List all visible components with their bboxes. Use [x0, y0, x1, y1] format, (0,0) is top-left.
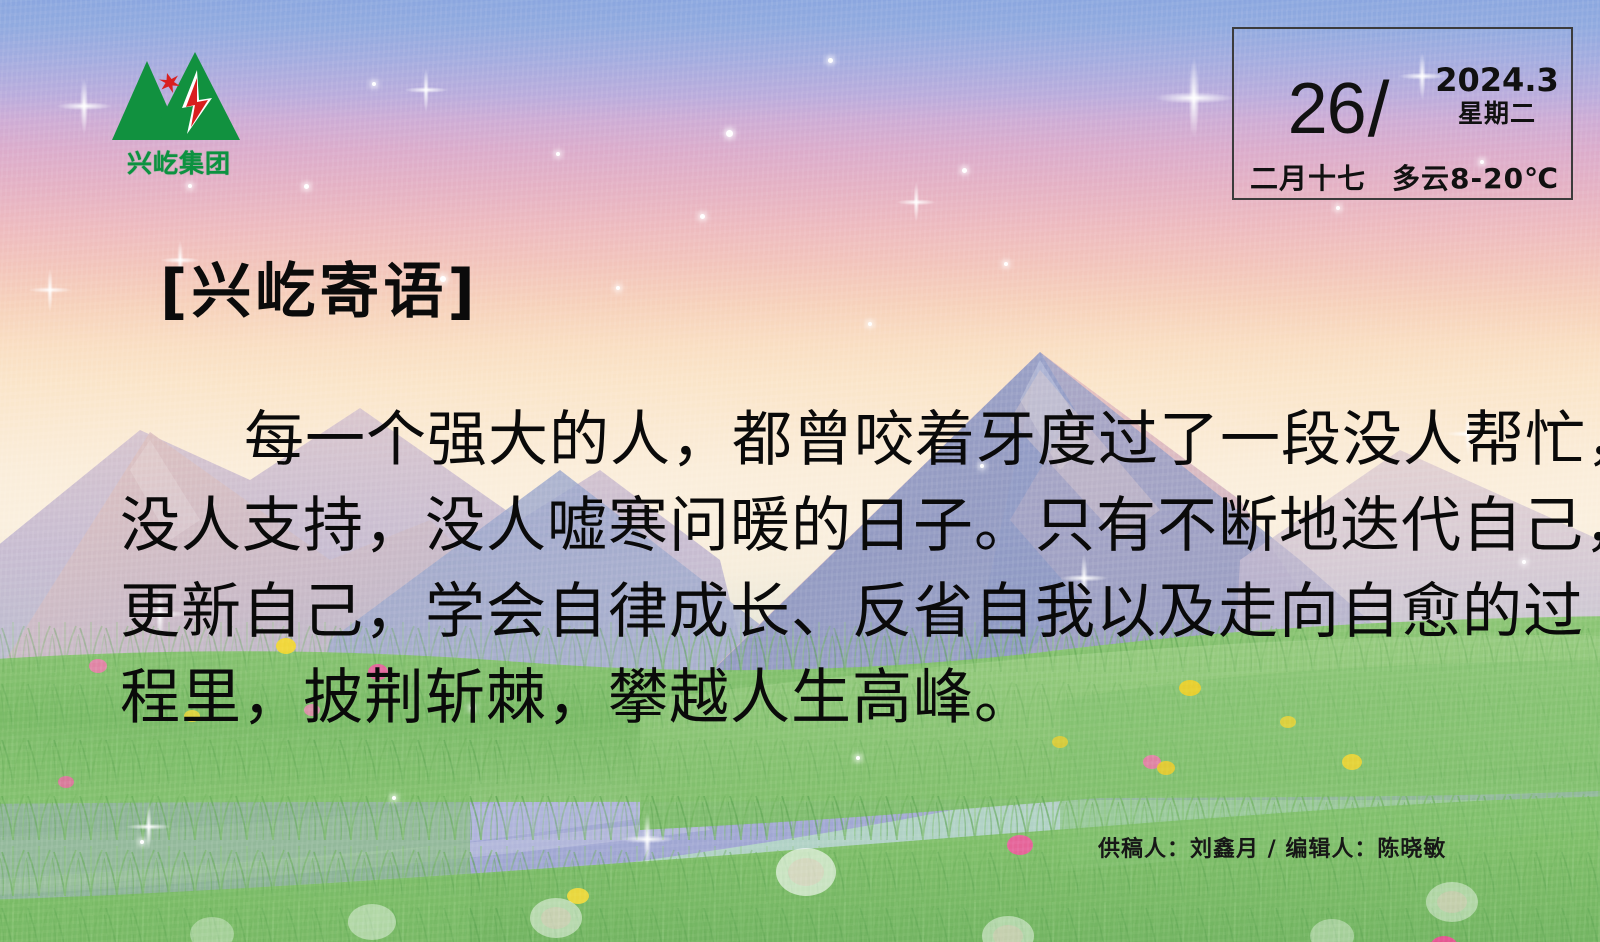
date-weather: 多云8-20℃ [1392, 157, 1559, 197]
date-lunar-weather-group: 二月十七 多云8-20℃ [1234, 157, 1575, 197]
date-day-group: 26/ [1248, 63, 1428, 155]
quote-line-2: 没人支持，没人嘘寒问暖的日子。只有不断地迭代自己， [120, 483, 1510, 569]
company-logo[interactable]: 兴屹集团 [104, 48, 254, 178]
mountain-star-bolt-icon [104, 48, 254, 152]
quote-line-4: 程里，披荆斩棘，攀越人生高峰。 [120, 655, 1510, 741]
page-title: [兴屹寄语] [160, 243, 479, 330]
quote-line-1: 每一个强大的人，都曾咬着牙度过了一段没人帮忙， [120, 397, 1510, 483]
poster-canvas: 兴屹集团 26/ 2024.3 星期二 二月十七 多云8-20℃ [兴屹寄语] … [0, 0, 1600, 942]
date-day: 26 [1288, 73, 1366, 145]
date-lunar: 二月十七 [1250, 157, 1366, 197]
date-card: 26/ 2024.3 星期二 二月十七 多云8-20℃ [1232, 27, 1573, 200]
logo-wordmark: 兴屹集团 [104, 144, 254, 180]
date-weekday: 星期二 [1430, 98, 1564, 131]
quote-line-3: 更新自己，学会自律成长、反省自我以及走向自愈的过 [120, 569, 1510, 655]
date-slash: / [1368, 70, 1389, 148]
quote-body: 每一个强大的人，都曾咬着牙度过了一段没人帮忙， 没人支持，没人嘘寒问暖的日子。只… [120, 397, 1510, 741]
footer-credits: 供稿人：刘鑫月 / 编辑人：陈晓敏 [1098, 831, 1446, 863]
date-year-month: 2024.3 [1430, 63, 1564, 98]
date-year-week-group: 2024.3 星期二 [1430, 63, 1564, 130]
